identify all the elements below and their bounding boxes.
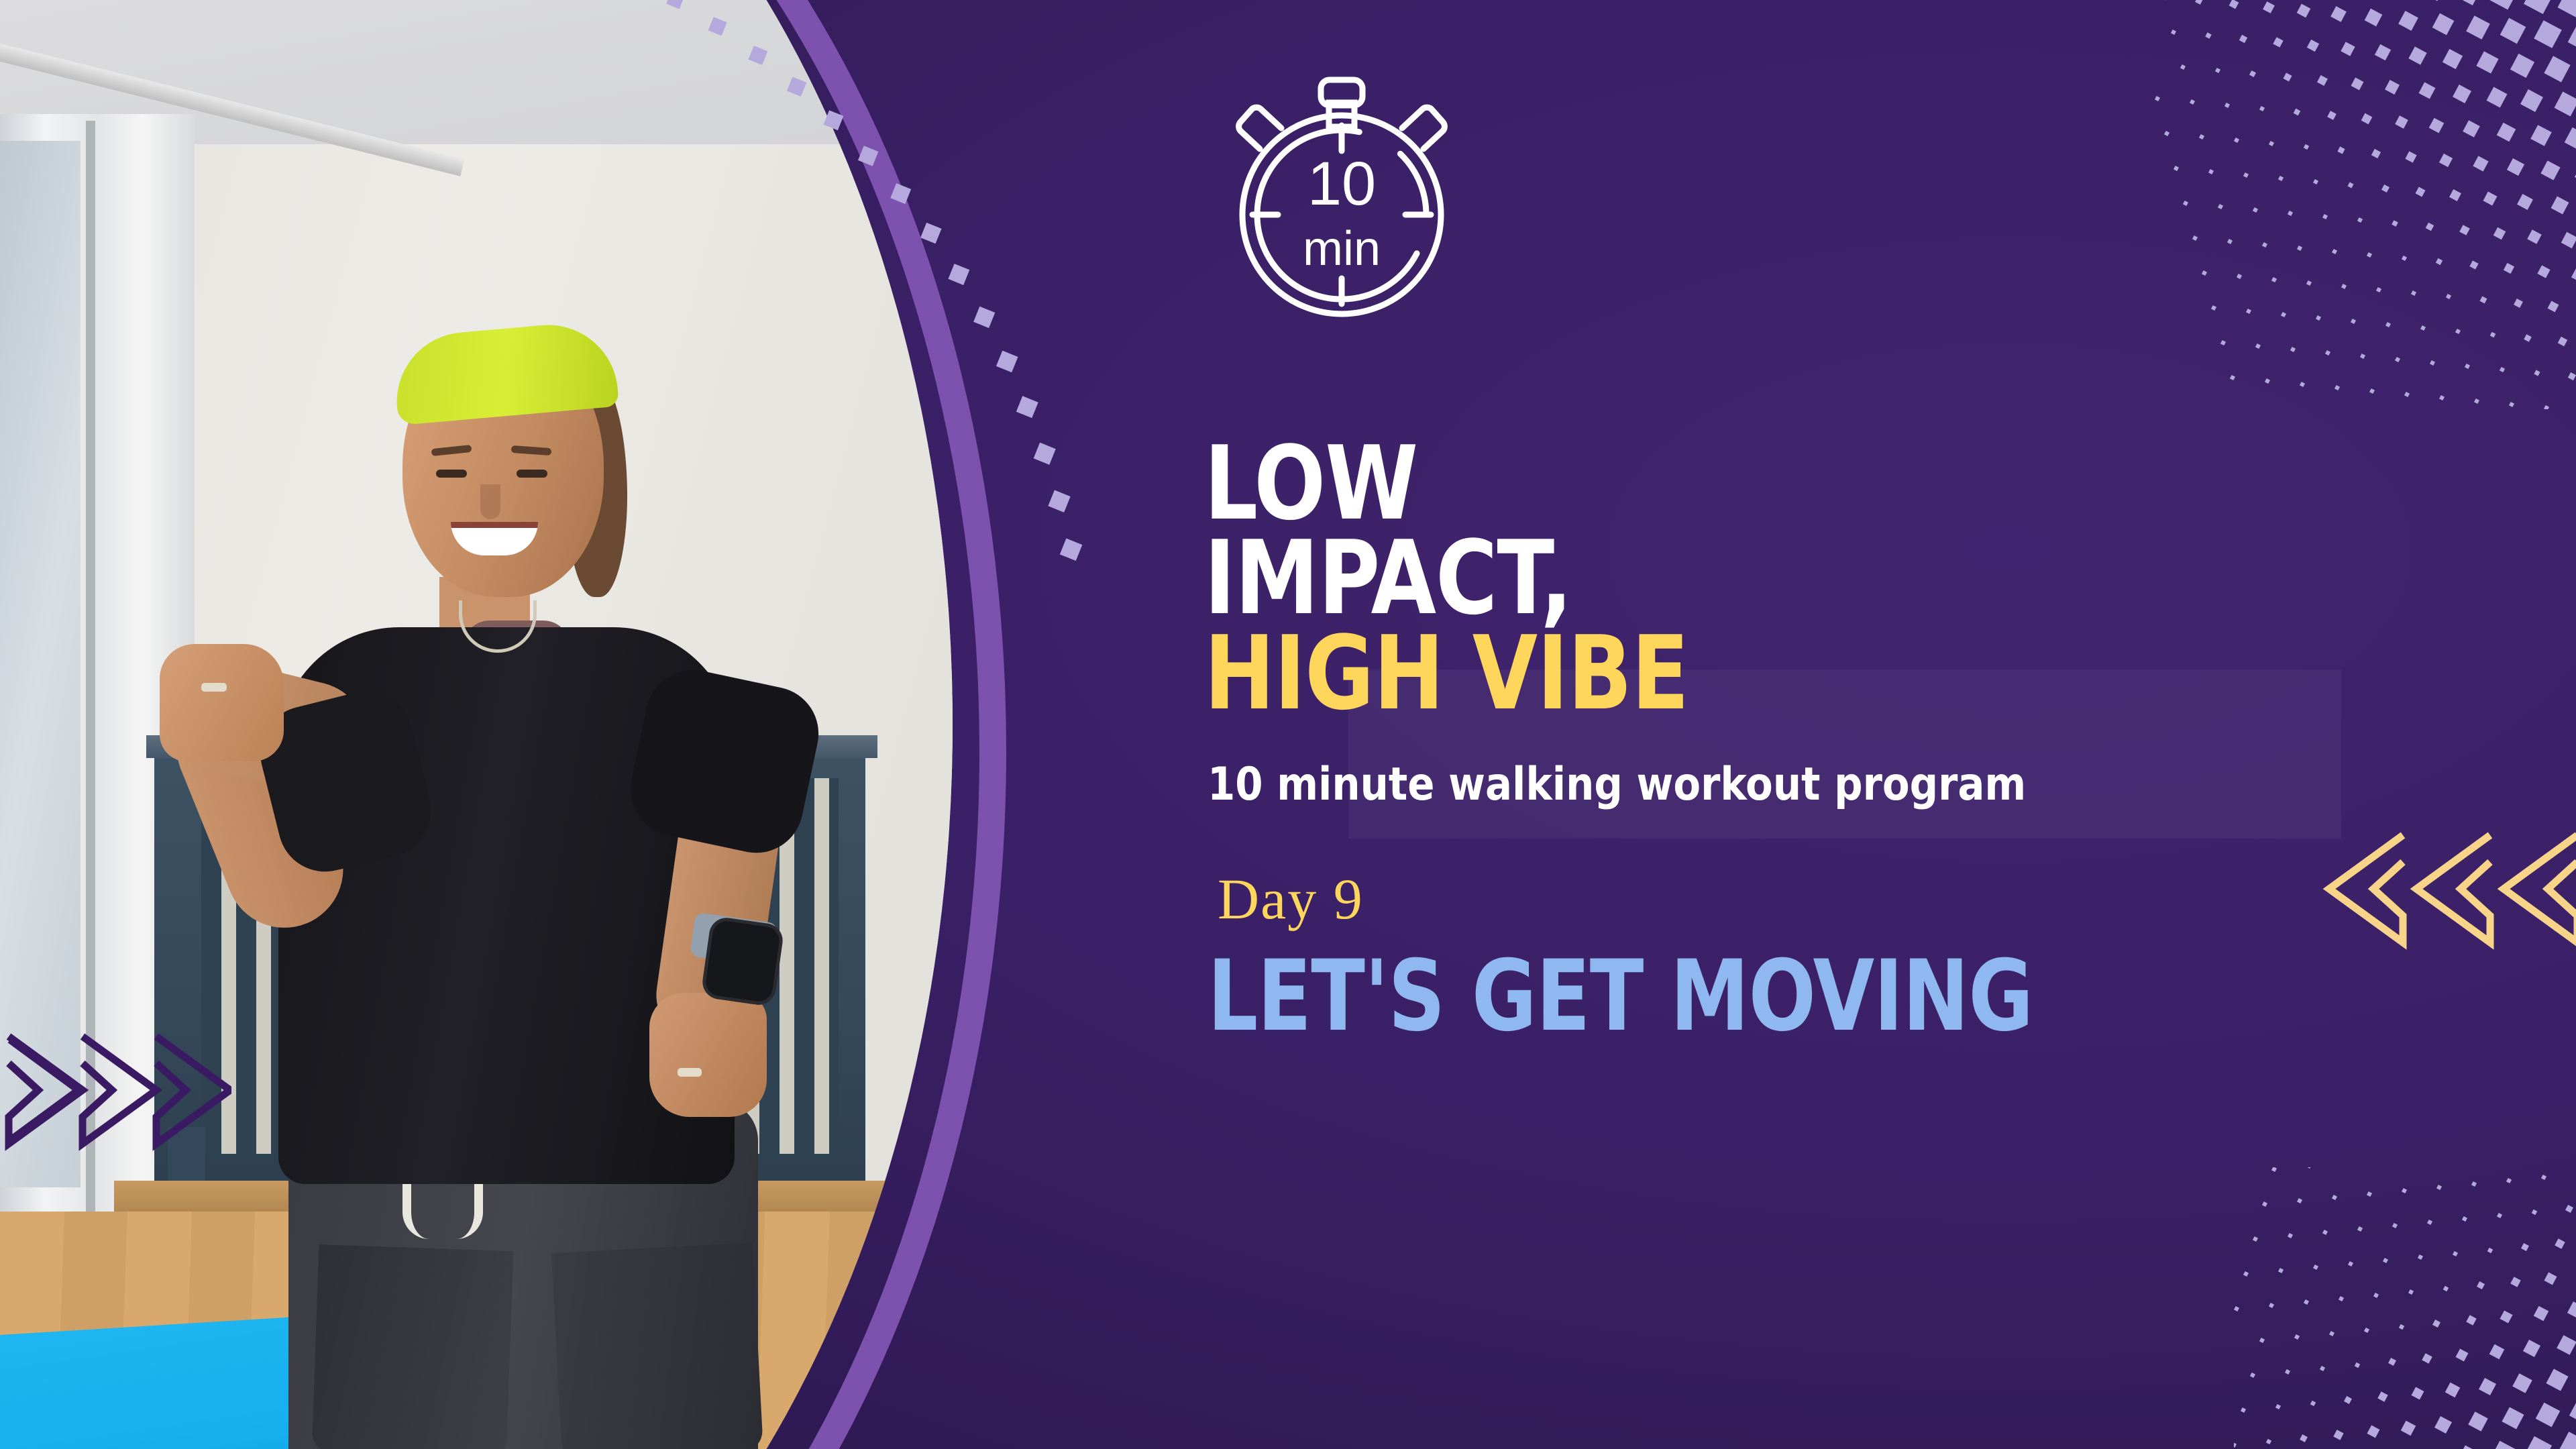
halftone-dot <box>2571 268 2576 282</box>
halftone-dot <box>2483 192 2498 206</box>
halftone-dot <box>2469 260 2478 269</box>
halftone-dot <box>2432 1320 2440 1328</box>
halftone-dot <box>2510 1277 2521 1287</box>
halftone-dot <box>2502 1407 2524 1429</box>
person-ring-upper <box>201 683 227 692</box>
person-eye-left <box>436 470 467 478</box>
halftone-dot <box>2537 265 2550 278</box>
halftone-dot <box>2497 1213 2502 1218</box>
halftone-dot <box>2555 1238 2565 1249</box>
halftone-dot <box>2509 402 2514 407</box>
halftone-dot <box>2404 392 2410 397</box>
halftone-dot <box>2477 1281 2485 1289</box>
halftone-dot <box>2524 334 2532 342</box>
halftone-dot <box>2466 15 2490 40</box>
halftone-dot <box>2459 225 2470 235</box>
halftone-dot <box>2422 1353 2432 1363</box>
halftone-dot <box>2568 23 2576 53</box>
smartwatch <box>700 916 785 1007</box>
halftone-dot <box>2476 51 2498 73</box>
halftone-dot <box>2439 154 2453 167</box>
halftone-dot <box>2551 197 2569 215</box>
halftone-dot <box>2527 229 2542 244</box>
halftone-dot <box>2558 337 2568 347</box>
halftone-dot <box>2420 325 2426 331</box>
person-fist <box>160 644 284 761</box>
chevron-right-icon-3 <box>156 1036 230 1144</box>
halftone-dot <box>2434 1416 2452 1434</box>
chevron-right-icon-group <box>3 1016 231 1164</box>
halftone-dot <box>2436 258 2443 265</box>
halftone-dot <box>2534 370 2540 376</box>
halftone-dot <box>2432 13 2455 36</box>
halftone-dot <box>2497 123 2516 142</box>
halftone-dot <box>2541 1175 2546 1180</box>
headline: LOW IMPACT, HIGH VIBE <box>1204 436 2345 720</box>
halftone-dot <box>2457 1445 2479 1449</box>
halftone-dot <box>2408 46 2426 64</box>
halftone-dot <box>2559 1432 2576 1449</box>
halftone-dot <box>2548 301 2559 313</box>
halftone-dot <box>2500 367 2505 372</box>
halftone-dot <box>2504 263 2514 274</box>
halftone-dot <box>2468 1411 2488 1432</box>
halftone-dot <box>2558 0 2576 18</box>
halftone-dot <box>2490 0 2518 9</box>
halftone-dot <box>2443 1286 2449 1291</box>
halftone-dot <box>2422 0 2446 1</box>
halftone-dot <box>2408 1289 2414 1295</box>
halftone-dot <box>2489 1344 2505 1360</box>
halftone-dot <box>2544 405 2549 409</box>
halftone-dot <box>2536 1403 2561 1428</box>
halftone-dot <box>2565 127 2576 151</box>
halftone-dot <box>2512 1373 2532 1393</box>
halftone-dot <box>2398 11 2418 31</box>
halftone-dot <box>2474 398 2479 404</box>
badge-duration-unit: min <box>1303 222 1381 276</box>
halftone-dot <box>2555 92 2576 117</box>
person-ring-lower <box>678 1068 702 1077</box>
halftone-dot <box>2479 1378 2496 1395</box>
halftone-dot <box>2523 1340 2540 1357</box>
chevron-left-icon-2 <box>2416 835 2490 943</box>
headline-line-3: HIGH VIBE <box>1204 626 2253 720</box>
halftone-dot <box>2534 20 2562 48</box>
halftone-dot <box>2565 1205 2573 1213</box>
halftone-dot <box>2500 1310 2512 1323</box>
halftone-dot <box>2402 256 2407 261</box>
halftone-dot <box>2466 1315 2476 1325</box>
halftone-dot <box>2453 85 2471 103</box>
halftone-dot <box>2430 360 2435 366</box>
halftone-dot <box>2453 1251 2458 1256</box>
person-eye-right <box>517 470 547 478</box>
halftone-dot <box>2465 364 2470 369</box>
halftone-dot <box>2540 160 2560 180</box>
chevron-right-icon-2 <box>83 1036 156 1144</box>
halftone-dot <box>2463 120 2480 138</box>
day-label: Day 9 <box>1218 865 1364 932</box>
person-leg-right <box>551 1242 763 1449</box>
halftone-dot <box>2439 395 2445 400</box>
halftone-dot <box>2567 1301 2576 1319</box>
halftone-dot <box>2401 1421 2416 1436</box>
halftone-dot <box>2471 1181 2477 1187</box>
halftone-dot <box>2395 115 2408 129</box>
halftone-dot <box>2395 357 2400 362</box>
halftone-dot <box>2525 1436 2552 1449</box>
halftone-dot <box>2506 1178 2512 1183</box>
halftone-dot <box>2462 1216 2467 1222</box>
halftone-dot <box>2480 297 2487 304</box>
photo-scene <box>0 0 953 1449</box>
photo-circular-mask <box>0 0 953 1449</box>
person-nose <box>480 484 500 519</box>
halftone-dot <box>2449 189 2461 201</box>
person-leg-left <box>312 1244 514 1449</box>
halftone-dot <box>2546 1368 2568 1391</box>
subtitle: 10 minute walking workout program <box>1207 758 2314 811</box>
halftone-dot <box>2405 151 2416 162</box>
halftone-dot <box>2392 220 2398 227</box>
halftone-dot <box>2416 187 2426 197</box>
halftone-dot <box>2455 329 2461 334</box>
halftone-dot <box>2532 1210 2538 1216</box>
halftone-dot <box>2524 0 2553 14</box>
halftone-dot <box>2530 125 2552 146</box>
halftone-dot <box>2426 223 2434 231</box>
stopwatch-icon: 10 min <box>1201 64 1483 332</box>
halftone-dot <box>2544 56 2570 82</box>
halftone-dot <box>2418 1254 2423 1260</box>
headline-line-1: LOW <box>1204 436 2253 531</box>
halftone-dot <box>2500 18 2526 44</box>
halftone-dot <box>2487 1248 2493 1253</box>
headline-line-2: IMPACT, <box>1204 531 2253 625</box>
halftone-dot <box>2493 227 2506 240</box>
halftone-dot <box>2544 1272 2557 1285</box>
halftone-dot <box>2392 1223 2398 1228</box>
halftone-dot <box>2429 118 2445 133</box>
halftone-dot <box>2507 158 2524 176</box>
halftone-dot <box>2557 1335 2576 1355</box>
halftone-dot <box>2411 290 2416 296</box>
promo-banner: 10 min LOW IMPACT, HIGH VIBE 10 minute w… <box>0 0 2576 1449</box>
halftone-dot <box>2446 294 2451 299</box>
halftone-dot <box>2473 156 2488 171</box>
banner-content: 10 min LOW IMPACT, HIGH VIBE 10 minute w… <box>1207 0 2388 1449</box>
badge-duration-value: 10 <box>1307 150 1376 218</box>
kicker-text: LET'S GET MOVING <box>1207 939 2033 1053</box>
chevron-left-icon-3 <box>2504 835 2576 943</box>
halftone-dot <box>2436 1185 2442 1190</box>
halftone-dot <box>2517 194 2533 210</box>
halftone-dot <box>2443 49 2463 69</box>
halftone-dot <box>2514 299 2523 308</box>
chevron-right-icon-1 <box>9 1036 83 1144</box>
halftone-dot <box>2412 1387 2424 1400</box>
halftone-dot <box>2402 1188 2407 1193</box>
person-hand-lower <box>649 993 767 1117</box>
halftone-dot <box>2521 1243 2529 1251</box>
halftone-dot <box>2456 0 2481 5</box>
halftone-dot <box>2490 332 2496 338</box>
halftone-dot <box>2569 1398 2576 1425</box>
chevron-right-icon <box>10 1040 78 1140</box>
halftone-dot <box>2534 1306 2549 1322</box>
halftone-dot <box>2487 87 2508 108</box>
halftone-dot <box>2520 89 2543 112</box>
halftone-dot <box>2455 1348 2468 1361</box>
halftone-dot <box>2445 1383 2461 1398</box>
halftone-dot <box>2399 1324 2404 1330</box>
hero-photo <box>0 0 1100 1449</box>
halftone-dot <box>2491 1441 2516 1449</box>
halftone-dot <box>2427 1220 2432 1225</box>
halftone-dot <box>2561 232 2576 249</box>
halftone-dot <box>2388 1358 2396 1366</box>
halftone-dot <box>2568 372 2576 380</box>
halftone-dot <box>2419 83 2436 99</box>
halftone-dot <box>2510 54 2534 78</box>
